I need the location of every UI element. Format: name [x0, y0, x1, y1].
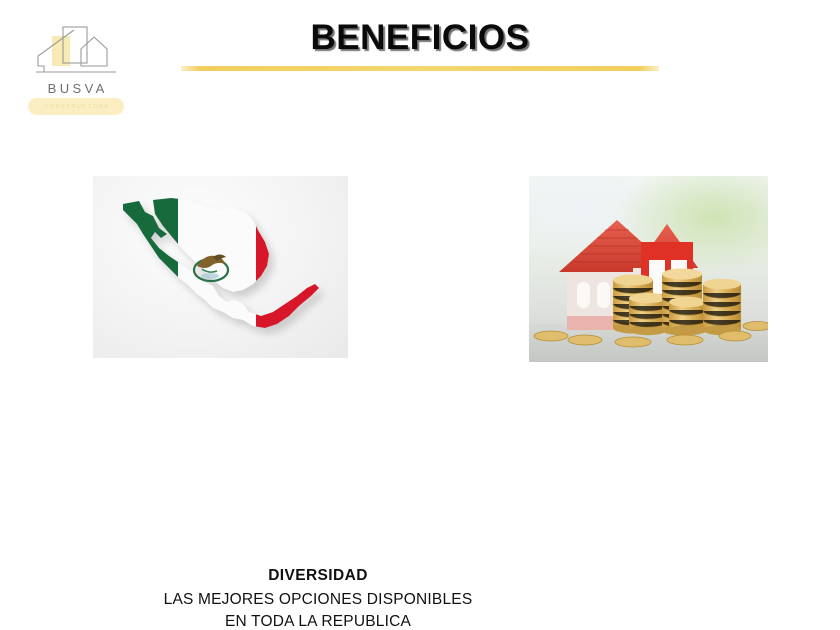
logo-wordmark: BUSVA — [26, 81, 126, 96]
busva-logo[interactable]: BUSVA CONSTRUCTORA — [26, 24, 126, 116]
page-title: BENEFICIOS — [180, 18, 660, 58]
busva-building-mark-icon — [26, 24, 126, 82]
logo-subtitle-pill: CONSTRUCTORA — [28, 98, 124, 115]
caption-body-line-2: EN TODA LA REPUBLICA — [103, 611, 533, 630]
caption-heading: DIVERSIDAD — [103, 565, 533, 586]
caption-body-line-1: LAS MEJORES OPCIONES DISPONIBLES — [103, 589, 533, 611]
logo-subtitle: CONSTRUCTORA — [42, 104, 109, 110]
benefit-card-accesibilidad: ACCESIBILIDAD INVERSIONES DE ACUERDO A S… — [529, 176, 768, 362]
house-and-coins-image — [529, 176, 768, 362]
title-underline-rule — [181, 66, 659, 71]
benefit-card-diversidad: DIVERSIDAD LAS MEJORES OPCIONES DISPONIB… — [93, 176, 348, 358]
caption-diversidad: DIVERSIDAD LAS MEJORES OPCIONES DISPONIB… — [103, 565, 533, 630]
mexico-map-flag-image — [93, 176, 348, 358]
slide-canvas: BUSVA CONSTRUCTORA BENEFICIOS — [0, 0, 840, 630]
